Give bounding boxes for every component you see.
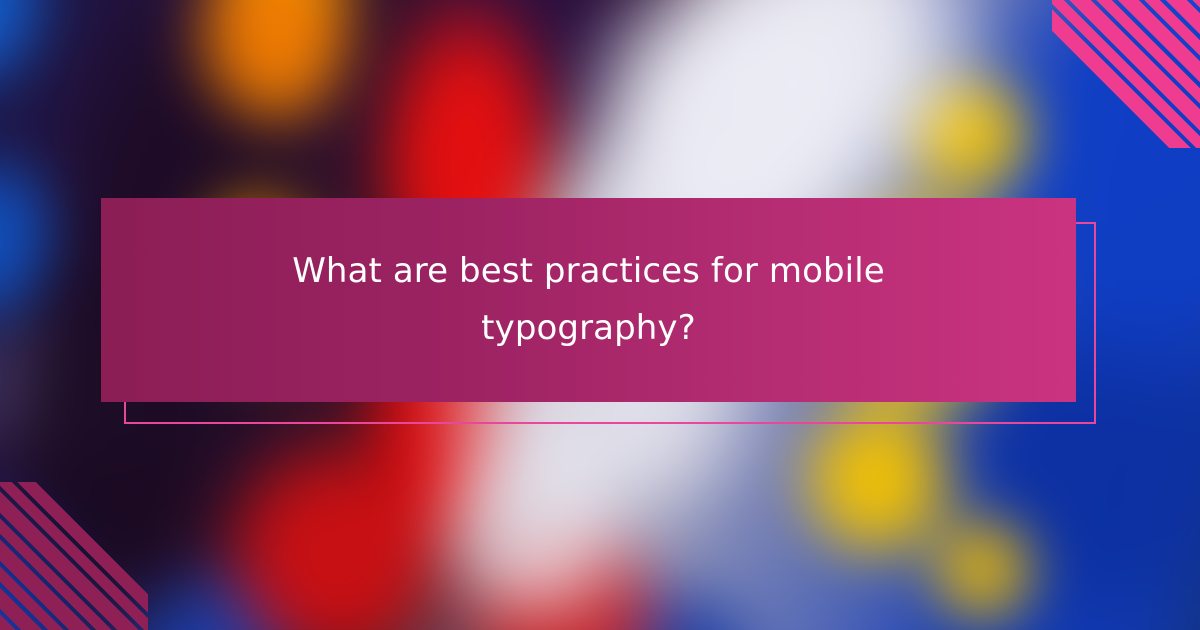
quote-card: What are best practices for mobile typog…: [101, 198, 1076, 402]
corner-dash-pattern-shape: [1052, 0, 1200, 148]
corner-pattern-bottom-left: [0, 482, 148, 630]
social-card-canvas: What are best practices for mobile typog…: [0, 0, 1200, 630]
quote-text: What are best practices for mobile typog…: [289, 243, 889, 357]
corner-pattern-top-right: [1052, 0, 1200, 148]
corner-dash-pattern-shape: [0, 482, 148, 630]
